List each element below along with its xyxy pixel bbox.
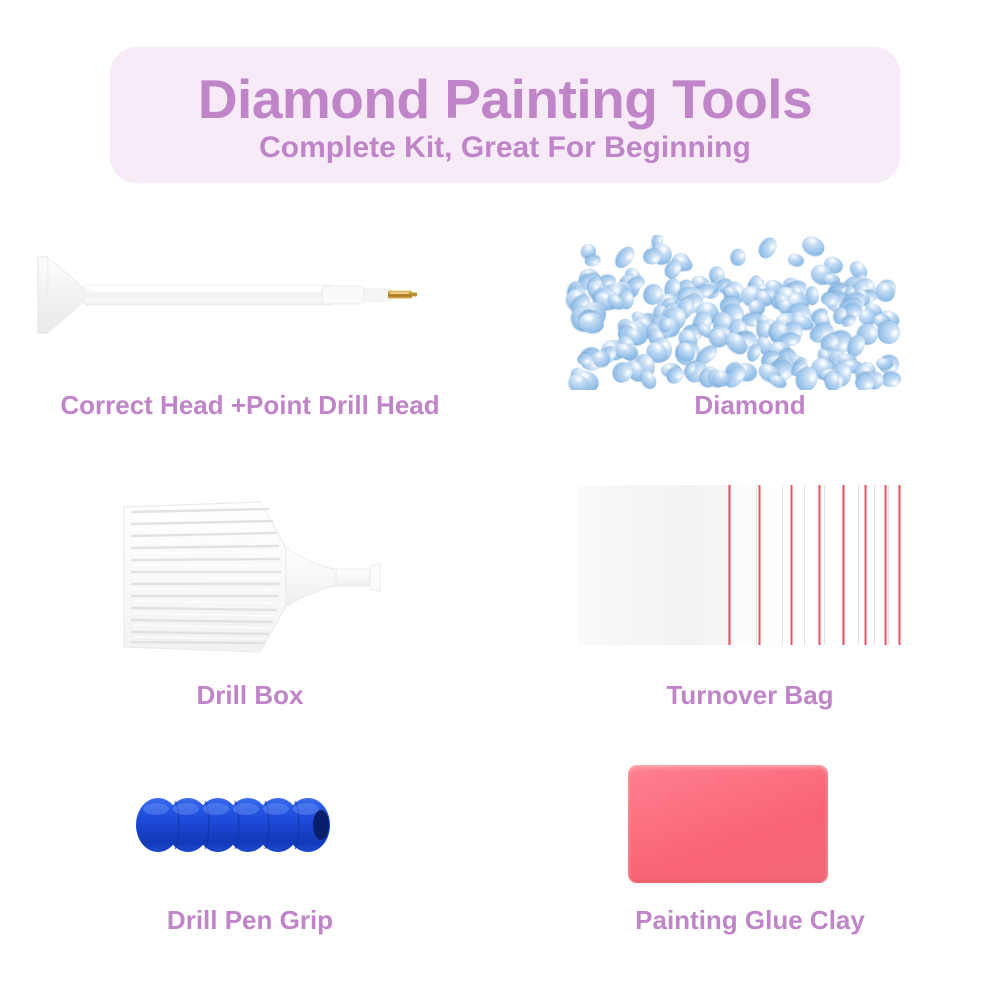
drill-tray-figure (0, 480, 500, 680)
product-label-drill-pen-grip: Drill Pen Grip (0, 905, 500, 936)
product-label-drill-box: Drill Box (0, 680, 500, 711)
zip-bag-stripe (884, 485, 887, 645)
zip-bag-stripe (864, 485, 867, 645)
product-cell-painting-glue-clay: Painting Glue Clay (500, 755, 1000, 936)
zip-bag-stripe (842, 485, 845, 645)
diamond-drills-icon (565, 235, 905, 390)
diamond-drill (823, 371, 839, 390)
diamond-drill (730, 248, 747, 267)
product-label-painting-glue-clay: Painting Glue Clay (500, 905, 1000, 936)
header-banner: Diamond Painting Tools Complete Kit, Gre… (110, 47, 900, 183)
product-cell-drill-box: Drill Box (0, 480, 500, 711)
zip-bag-icon (578, 485, 903, 645)
product-label-turnover-bag: Turnover Bag (500, 680, 1000, 711)
pen-grip-figure (0, 755, 500, 905)
product-grid: Correct Head +Point Drill Head Diamond (0, 200, 1000, 990)
product-label-diamond: Diamond (500, 390, 1000, 421)
drill-pen-icon (22, 245, 442, 345)
drill-pen-figure (0, 200, 500, 390)
diamond-drill (787, 253, 805, 268)
zip-bag-stripe (818, 485, 821, 645)
glue-clay-figure (500, 755, 1000, 905)
pen-grip-icon (130, 785, 350, 865)
glue-clay-icon (628, 765, 828, 883)
diamond-drill (756, 235, 781, 261)
product-cell-correct-head-point-drill-head: Correct Head +Point Drill Head (0, 200, 500, 421)
diamond-drill (799, 235, 827, 259)
zip-bag-stripe (758, 485, 761, 645)
product-cell-turnover-bag: Turnover Bag (500, 480, 1000, 711)
diamond-drills-figure (500, 200, 1000, 390)
product-cell-drill-pen-grip: Drill Pen Grip (0, 755, 500, 936)
page-subtitle: Complete Kit, Great For Beginning (259, 132, 751, 164)
zip-bag-figure (500, 480, 1000, 680)
drill-tray-icon (118, 490, 398, 665)
zip-bag-stripe (790, 485, 793, 645)
product-cell-diamond: Diamond (500, 200, 1000, 421)
zip-bag-stripe (728, 485, 731, 645)
product-label-correct-head-point-drill-head: Correct Head +Point Drill Head (0, 390, 500, 421)
diamond-drill (592, 351, 610, 368)
zip-bag-stripe (898, 485, 901, 645)
page-title: Diamond Painting Tools (198, 71, 812, 127)
